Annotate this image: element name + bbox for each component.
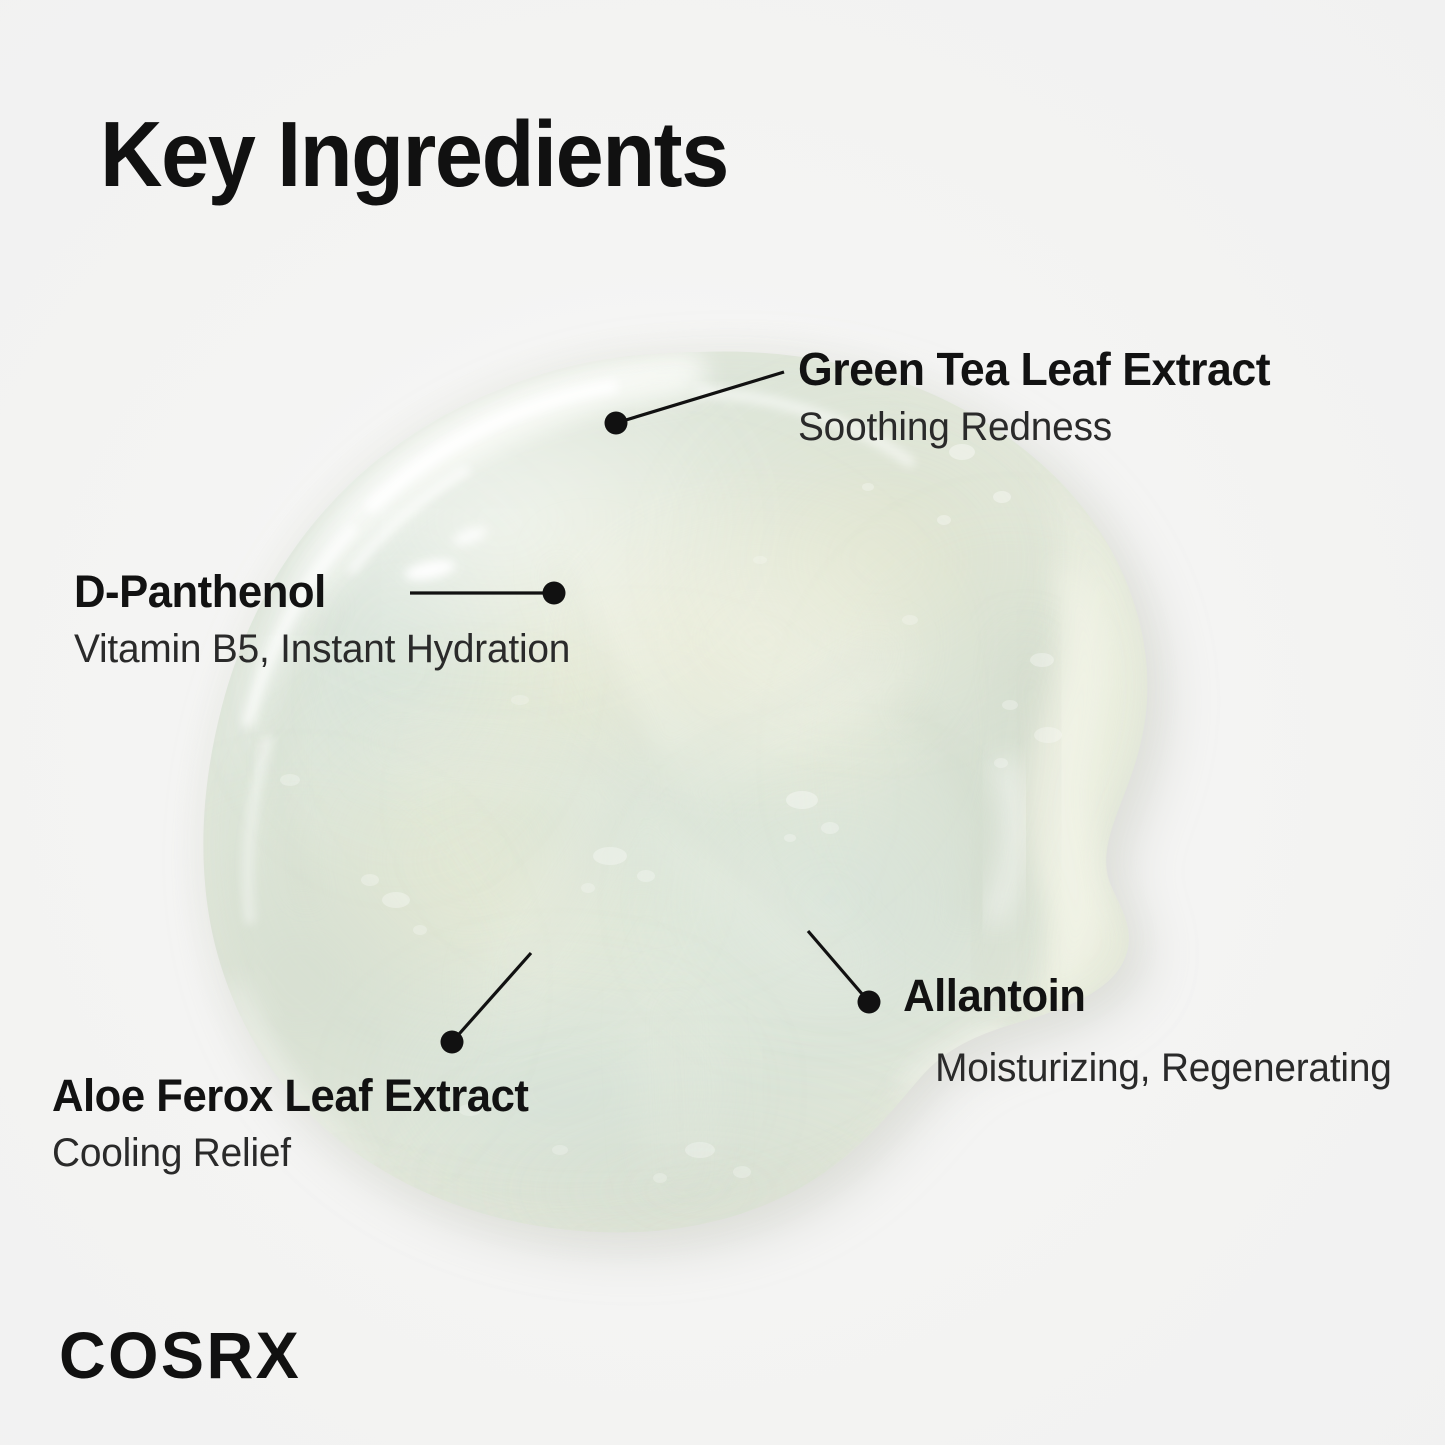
leader-aloe-ferox-leaf-extract <box>441 953 532 1054</box>
brand-logo-cosrx: COSRX <box>59 1322 301 1388</box>
ingredient-subtitle: Cooling Relief <box>52 1130 528 1176</box>
gel-texture-swatch <box>0 0 1445 1445</box>
ingredient-callout-allantoin: Allantoin Moisturizing, Regenerating <box>888 972 1392 1021</box>
ingredient-callout-green-tea-leaf-extract: Green Tea Leaf Extract Soothing Redness <box>798 345 1285 450</box>
gel-swatch-svg <box>0 0 1445 1445</box>
callout-leader-line <box>452 953 531 1042</box>
ingredient-title: Green Tea Leaf Extract <box>798 345 1270 395</box>
filled-circle-marker <box>441 1031 464 1054</box>
ingredient-title: Allantoin <box>903 972 1392 1021</box>
leader-green-tea-leaf-extract <box>605 372 785 435</box>
ingredient-callout-aloe-ferox-leaf-extract: Aloe Ferox Leaf Extract Cooling Relief <box>52 1072 543 1176</box>
infographic-canvas: Key Ingredients Green Tea Leaf Extract S… <box>0 0 1445 1445</box>
ingredient-title: Aloe Ferox Leaf Extract <box>52 1072 528 1121</box>
ingredient-subtitle: Moisturizing, Regenerating <box>936 1045 1392 1091</box>
ingredient-title: D-Panthenol <box>74 568 570 617</box>
filled-circle-marker <box>858 991 881 1014</box>
leader-allantoin <box>808 931 881 1014</box>
ingredient-subtitle: Soothing Redness <box>798 404 1270 450</box>
page-title: Key Ingredients <box>100 108 728 201</box>
callout-leader-line <box>616 372 784 423</box>
ingredient-callout-d-panthenol: D-Panthenol Vitamin B5, Instant Hydratio… <box>74 568 586 672</box>
callout-leader-line <box>808 931 869 1002</box>
callout-leaders <box>0 0 1445 1445</box>
filled-circle-marker <box>605 412 628 435</box>
ingredient-subtitle: Vitamin B5, Instant Hydration <box>74 626 570 672</box>
background-wash <box>0 0 1445 1445</box>
